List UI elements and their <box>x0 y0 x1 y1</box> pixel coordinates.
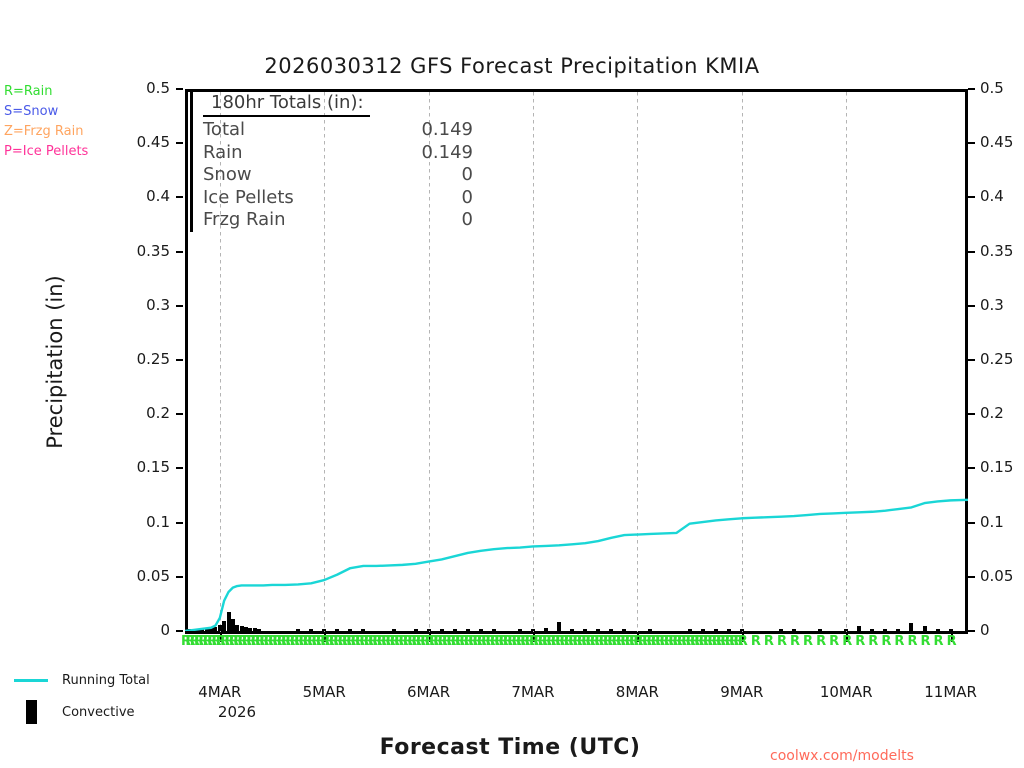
precip-type-marker: R <box>816 634 826 649</box>
running-total-path <box>185 500 968 631</box>
legend-row[interactable]: Convective <box>14 696 194 728</box>
precip-type-legend-item: Z=Frzg Rain <box>4 122 174 142</box>
y-axis-tick-mark <box>176 142 183 144</box>
y-axis-tick-label: 0.5 <box>980 79 1024 97</box>
y-axis-tick-mark <box>968 88 975 90</box>
y-axis-tick-mark <box>968 630 975 632</box>
page-title: 2026030312 GFS Forecast Precipitation KM… <box>0 54 1024 78</box>
y-axis-tick-mark <box>176 196 183 198</box>
precip-type-legend-item: P=Ice Pellets <box>4 142 174 162</box>
y-axis-tick-label: 0.35 <box>122 242 170 260</box>
y-axis-tick-label: 0.3 <box>122 296 170 314</box>
y-axis-tick-mark <box>968 305 975 307</box>
x-axis-tick-label: 6MAR <box>384 683 474 701</box>
y-axis-tick-label: 0.15 <box>122 458 170 476</box>
y-axis-tick-mark <box>968 142 975 144</box>
y-axis-tick-label: 0 <box>980 621 1024 639</box>
precip-type-marker: R <box>764 634 774 649</box>
y-axis-tick-mark <box>968 196 975 198</box>
legend-row[interactable]: Running Total <box>14 664 194 696</box>
precip-type-marker: R <box>855 634 865 649</box>
y-axis-tick-label: 0.2 <box>122 404 170 422</box>
precip-type-marker: R <box>947 634 957 649</box>
precip-type-legend: R=RainS=SnowZ=Frzg RainP=Ice Pellets <box>4 82 174 162</box>
y-axis-tick-mark <box>176 359 183 361</box>
y-axis-tick-label: 0.15 <box>980 458 1024 476</box>
y-axis-tick-label: 0.25 <box>122 350 170 368</box>
y-axis-tick-label: 0 <box>122 621 170 639</box>
y-axis-tick-label: 0.25 <box>980 350 1024 368</box>
x-axis-title: Forecast Time (UTC) <box>300 735 720 760</box>
series-legend: Running TotalConvective <box>14 664 194 728</box>
convective-swatch-icon <box>14 700 48 724</box>
y-axis-title: Precipitation (in) <box>43 247 67 477</box>
x-axis-tick-label: 8MAR <box>592 683 682 701</box>
y-axis-tick-mark <box>968 359 975 361</box>
y-axis-tick-label: 0.4 <box>980 187 1024 205</box>
x-axis-year-label: 2026 <box>192 703 282 721</box>
precip-type-marker: R <box>881 634 891 649</box>
y-axis-tick-label: 0.3 <box>980 296 1024 314</box>
x-axis-tick-label: 10MAR <box>801 683 891 701</box>
precip-type-legend-item: R=Rain <box>4 82 174 102</box>
precip-type-marker: R <box>738 634 748 649</box>
convective-bar-swatch-glyph <box>26 700 37 724</box>
y-axis-tick-mark <box>968 413 975 415</box>
y-axis-tick-mark <box>968 522 975 524</box>
y-axis-tick-label: 0.1 <box>980 513 1024 531</box>
x-axis-tick-label: 11MAR <box>906 683 996 701</box>
x-axis-tick-label: 9MAR <box>697 683 787 701</box>
precip-type-markers-layer: RRRRRRRRRRRRRRRRRRRRRRRRRRRRRRRRRRRRRRRR… <box>185 634 968 654</box>
precip-type-marker: R <box>894 634 904 649</box>
y-axis-tick-label: 0.35 <box>980 242 1024 260</box>
precip-type-marker: R <box>868 634 878 649</box>
precip-type-marker: R <box>907 634 917 649</box>
watermark-link[interactable]: coolwx.com/modelts <box>770 748 1020 764</box>
y-axis-tick-mark <box>176 576 183 578</box>
y-axis-tick-label: 0.4 <box>122 187 170 205</box>
precip-type-legend-item: S=Snow <box>4 102 174 122</box>
precip-type-marker: R <box>934 634 944 649</box>
y-axis-tick-mark <box>176 251 183 253</box>
y-axis-tick-mark <box>968 576 975 578</box>
y-axis-tick-label: 0.05 <box>980 567 1024 585</box>
y-axis-tick-mark <box>968 251 975 253</box>
y-axis-tick-label: 0.45 <box>980 133 1024 151</box>
precip-type-marker: R <box>921 634 931 649</box>
precip-type-marker: R <box>842 634 852 649</box>
y-axis-tick-label: 0.1 <box>122 513 170 531</box>
running-total-line-layer <box>185 89 968 631</box>
x-axis-tick-label: 7MAR <box>488 683 578 701</box>
running-total-line <box>185 89 968 631</box>
y-axis-tick-mark <box>176 413 183 415</box>
precip-type-marker: R <box>751 634 761 649</box>
legend-label: Running Total <box>62 673 150 688</box>
running-total-swatch-icon <box>14 679 48 682</box>
precip-type-marker: R <box>777 634 787 649</box>
y-axis-tick-mark <box>176 88 183 90</box>
y-axis-tick-mark <box>176 467 183 469</box>
precip-type-marker: R <box>803 634 813 649</box>
y-axis-tick-mark <box>176 630 183 632</box>
legend-label: Convective <box>62 705 135 720</box>
precip-type-marker: R <box>790 634 800 649</box>
y-axis-tick-mark <box>968 467 975 469</box>
y-axis-tick-mark <box>176 522 183 524</box>
y-axis-tick-label: 0.05 <box>122 567 170 585</box>
precip-type-marker: R <box>829 634 839 649</box>
y-axis-tick-label: 0.2 <box>980 404 1024 422</box>
x-axis-tick-label: 5MAR <box>279 683 369 701</box>
y-axis-tick-mark <box>176 305 183 307</box>
